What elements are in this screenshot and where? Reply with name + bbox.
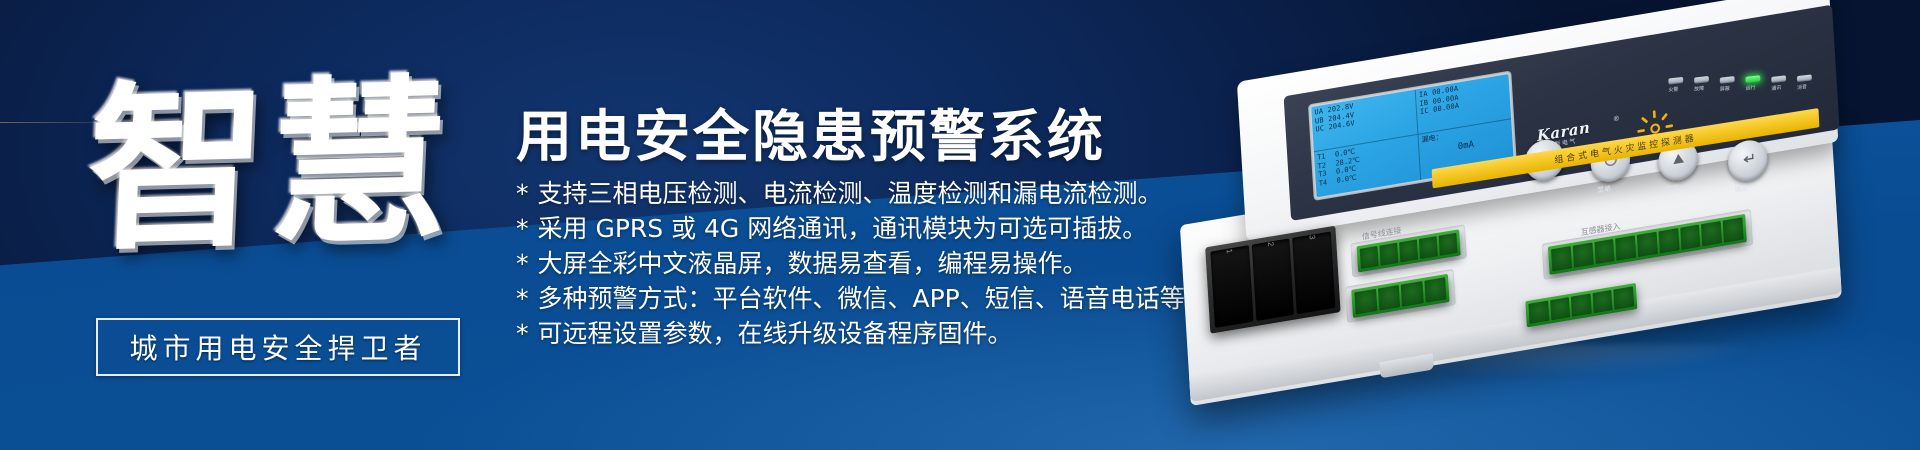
led-indicator-fault: [1694, 76, 1709, 84]
terminal-port: [1419, 236, 1438, 259]
terminal-pin-number: 1: [1225, 248, 1234, 254]
tagline-text: 城市用电安全捍卫者: [129, 327, 426, 367]
terminal-port: [1658, 228, 1679, 253]
feature-text: 可远程设置参数，在线升级设备程序固件。: [538, 316, 1013, 351]
promo-banner: 智慧 城市用电安全捍卫者 用电安全隐患预警系统 * 支持三相电压检测、电流检测、…: [0, 0, 1920, 450]
terminal-port: [1723, 217, 1744, 242]
calligraphy-title: 智慧: [64, 21, 477, 311]
led-label-mute: 消音: [1797, 83, 1807, 91]
terminal-port: [1424, 277, 1447, 303]
bullet-mark-icon: *: [516, 211, 529, 246]
lcd-screen: UA 202.8V UB 204.4V UC 204.6V IA 00.00A …: [1308, 71, 1517, 201]
terminal-port: [1615, 235, 1636, 260]
led-indicator-comm: [1771, 75, 1786, 83]
terminal-port: [1572, 243, 1593, 268]
terminal-pin: 2: [1251, 238, 1294, 321]
led-label-comm: 通讯: [1771, 84, 1781, 92]
terminal-port: [1399, 239, 1418, 262]
terminal-port: [1439, 233, 1458, 256]
terminal-port: [1379, 243, 1398, 266]
up-arrow-icon: [1669, 149, 1687, 172]
enter-icon: [1739, 149, 1757, 172]
product-image: UA 202.8V UB 204.4V UC 204.6V IA 00.00A …: [1098, 0, 1918, 450]
terminal-pin-number: 2: [1266, 241, 1275, 247]
led-label-fire: 火警: [1668, 85, 1678, 93]
bullet-mark-icon: *: [516, 281, 529, 316]
terminal-port: [1680, 225, 1701, 250]
led-indicator-shield: [1720, 76, 1735, 84]
feature-text: 支持三相电压检测、电流检测、温度检测和漏电流检测。: [538, 176, 1163, 211]
led-label-fault: 故障: [1694, 85, 1704, 93]
terminal-port: [1528, 301, 1549, 324]
terminal-port: [1378, 285, 1401, 311]
tagline-box: 城市用电安全捍卫者: [96, 318, 460, 376]
lcd-temp-key: T4: [1319, 177, 1332, 188]
bullet-mark-icon: *: [516, 246, 529, 281]
lcd-temp-value: 0.0℃: [1336, 173, 1357, 185]
terminal-port: [1701, 221, 1722, 246]
led-label-shield: 屏蔽: [1720, 85, 1730, 93]
led-indicator-mute: [1797, 74, 1812, 82]
terminal-port: [1571, 294, 1592, 317]
terminal-port: [1401, 281, 1424, 307]
feature-text: 大屏全彩中文液晶屏，数据易查看，编程易操作。: [538, 246, 1088, 281]
terminal-port: [1550, 297, 1571, 320]
terminal-port: [1354, 289, 1377, 315]
headline: 用电安全隐患预警系统: [516, 92, 1106, 173]
terminal-pin: 1: [1210, 245, 1253, 328]
terminal-port: [1614, 286, 1635, 309]
terminal-pin-number: 3: [1307, 234, 1316, 240]
terminal-port: [1360, 246, 1379, 269]
terminal-pin: 3: [1293, 232, 1336, 315]
led-label-run: 运行: [1746, 84, 1756, 92]
terminal-port: [1592, 290, 1613, 313]
bullet-mark-icon: *: [516, 316, 529, 351]
terminal-port: [1551, 246, 1572, 271]
led-indicator-fire: [1668, 77, 1683, 85]
feature-text: 采用 GPRS 或 4G 网络通讯，通讯模块为可选可插拔。: [538, 211, 1148, 246]
registered-mark-icon: ®: [1614, 115, 1620, 123]
terminal-port: [1637, 232, 1658, 257]
led-indicator-run: [1745, 75, 1760, 83]
bullet-mark-icon: *: [516, 176, 529, 211]
terminal-port: [1594, 239, 1615, 264]
